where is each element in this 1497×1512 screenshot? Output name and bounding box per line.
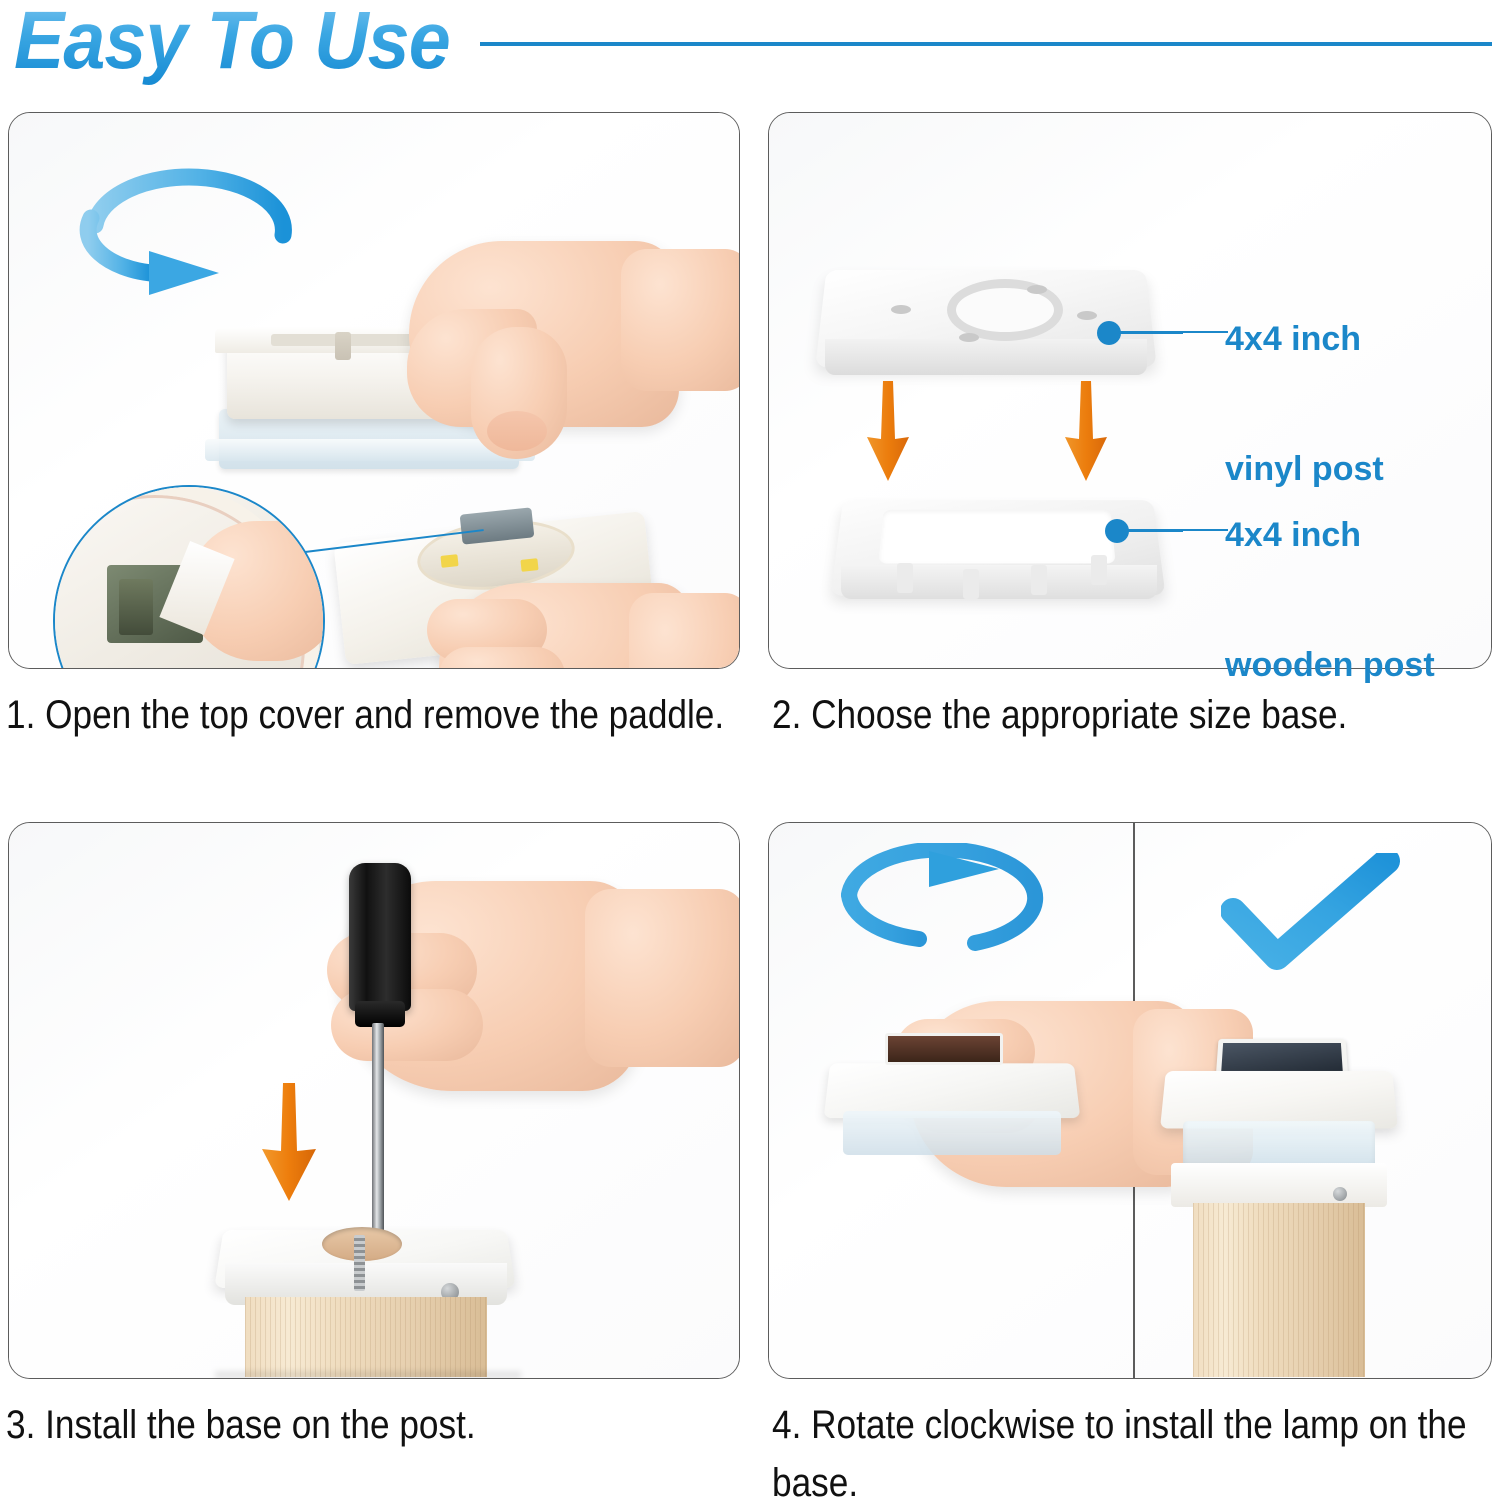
- vinyl-callout-line-extension: [1116, 331, 1228, 333]
- step-1-image-panel: [8, 112, 740, 669]
- assembled-wooden-post: [1193, 1203, 1365, 1377]
- wood-grain-texture: [245, 1297, 487, 1377]
- page-title: Easy To Use: [14, 0, 450, 88]
- screwdriver-handle: [349, 863, 411, 1011]
- magnifier-detail-circle: [53, 485, 325, 669]
- frame-rib-2: [963, 569, 979, 599]
- step-3-caption: 3. Install the base on the post.: [6, 1396, 745, 1454]
- rotate-clockwise-arrow: [61, 163, 311, 313]
- orange-down-arrow-left: [865, 381, 911, 483]
- vinyl-base-side: [825, 339, 1147, 375]
- assembled-clear-lens: [1183, 1121, 1375, 1169]
- vinyl-label-line-1: 4x4 inch: [1225, 318, 1384, 361]
- lamp-cover-center-tab: [335, 332, 351, 360]
- led-chip-1: [440, 554, 458, 568]
- finger-lower-2: [439, 647, 565, 669]
- step-2-caption: 2. Choose the appropriate size base.: [772, 686, 1497, 744]
- post-shadow: [215, 1371, 521, 1379]
- wooden-frame-side-wall: [841, 565, 1157, 599]
- screw-hole-3: [959, 333, 979, 342]
- wooden-callout-line-extension: [1124, 529, 1228, 531]
- screwdriver-shaft: [372, 1023, 384, 1235]
- frame-rib-4: [1091, 555, 1107, 585]
- step-3-image-panel: [8, 822, 740, 1379]
- wrist-upper: [621, 249, 740, 391]
- wooden-frame-opening: [878, 510, 1115, 564]
- led-chip-2: [520, 558, 538, 572]
- lamp-clear-lens: [843, 1111, 1061, 1155]
- lamp-white-cap: [824, 1063, 1081, 1118]
- wooden-label-line-1: 4x4 inch: [1225, 514, 1435, 557]
- wooden-post: [245, 1297, 487, 1377]
- lamp-cover-inner-slot: [271, 334, 431, 346]
- wrist-lower: [629, 593, 740, 669]
- screw-hole-4: [1077, 311, 1097, 320]
- orange-down-arrow: [259, 1083, 319, 1203]
- step-4-caption: 4. Rotate clockwise to install the lamp …: [772, 1396, 1497, 1512]
- assembled-base-set-screw: [1333, 1187, 1347, 1201]
- title-divider-rule: [480, 42, 1492, 46]
- header: Easy To Use: [0, 0, 1497, 92]
- rotate-clockwise-arrow: [831, 843, 1061, 963]
- assembled-lamp-cap: [1160, 1071, 1398, 1129]
- assembled-white-base: [1171, 1163, 1387, 1207]
- step-1-caption: 1. Open the top cover and remove the pad…: [6, 686, 745, 744]
- orange-down-arrow-right: [1063, 381, 1109, 483]
- lamp-solar-panel-strip: [885, 1033, 1003, 1065]
- wooden-label-line-2: wooden post: [1225, 644, 1435, 687]
- frame-rib-1: [897, 563, 913, 593]
- step-4-image-panel: [768, 822, 1492, 1379]
- wrist-screwdriver-hand: [585, 889, 740, 1067]
- frame-rib-3: [1031, 565, 1047, 595]
- screw-hole-1: [891, 305, 911, 314]
- mounting-screw: [354, 1235, 365, 1291]
- detail-battery-cell: [119, 579, 153, 635]
- wooden-post-callout-label: 4x4 inch wooden post: [1225, 428, 1435, 730]
- fingernail: [487, 411, 547, 451]
- blue-checkmark: [1221, 853, 1401, 973]
- screw-hole-2: [1027, 285, 1047, 294]
- wood-grain-texture: [1193, 1203, 1365, 1377]
